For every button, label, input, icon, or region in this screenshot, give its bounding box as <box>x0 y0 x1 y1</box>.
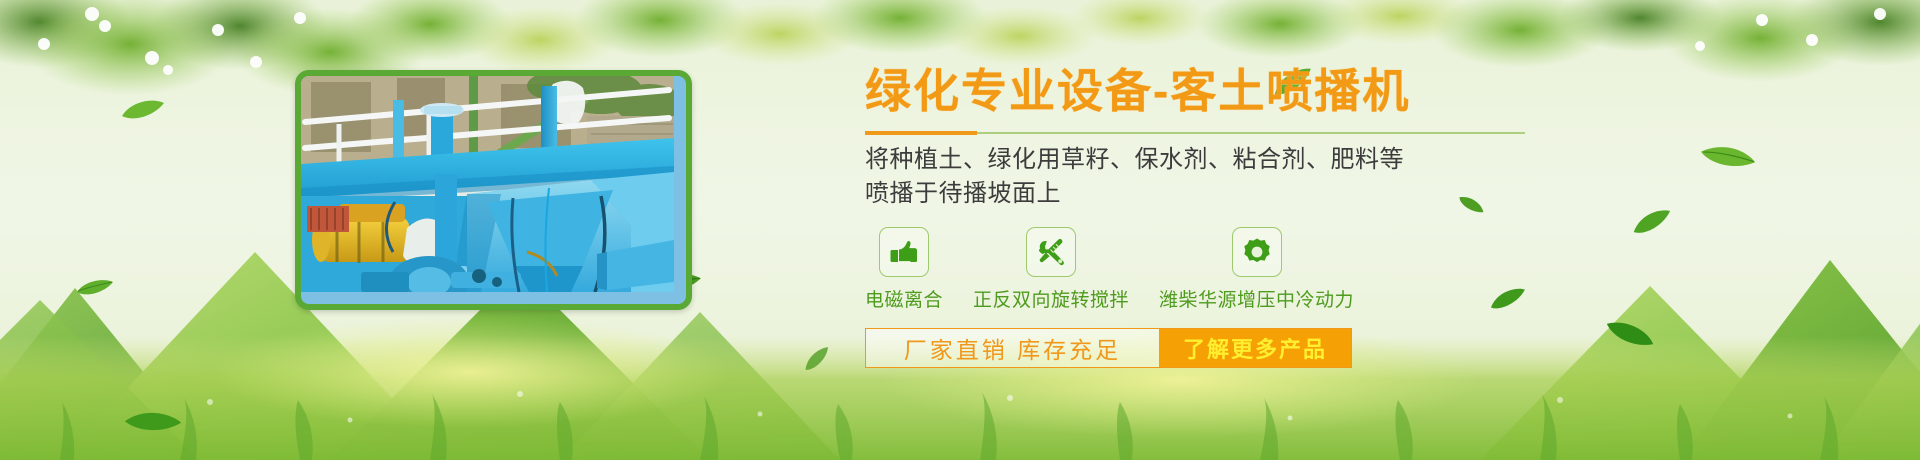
gear-icon <box>1232 227 1282 277</box>
feature-label: 正反双向旋转搅拌 <box>973 285 1129 312</box>
thumbs-up-icon <box>879 227 929 277</box>
product-photo <box>301 76 686 304</box>
product-photo-frame[interactable] <box>295 70 692 310</box>
feature-item-weichai-power[interactable]: 潍柴华源增压中冷动力 <box>1159 227 1354 312</box>
floating-leaf-icon <box>1696 130 1759 184</box>
feature-label: 潍柴华源增压中冷动力 <box>1159 285 1354 312</box>
feature-label: 电磁离合 <box>865 285 943 312</box>
feature-list: 电磁离合 <box>865 227 1625 312</box>
page-title: 绿化专业设备-客土喷播机 <box>865 66 1625 117</box>
learn-more-button[interactable]: 了解更多产品 <box>1159 329 1351 367</box>
feature-item-bidirectional-mixing[interactable]: 正反双向旋转搅拌 <box>973 227 1129 312</box>
cta-bar: 厂家直销 库存充足 了解更多产品 <box>865 328 1352 368</box>
subtitle-line-1: 将种植土、绿化用草籽、保水剂、粘合剂、肥料等 <box>865 143 1625 177</box>
banner-content: 绿化专业设备-客土喷播机 将种植土、绿化用草籽、保水剂、粘合剂、肥料等 喷播于待… <box>865 66 1625 368</box>
promo-banner: 绿化专业设备-客土喷播机 将种植土、绿化用草籽、保水剂、粘合剂、肥料等 喷播于待… <box>0 0 1920 460</box>
title-divider <box>865 131 1525 135</box>
floating-leaf-icon <box>75 278 115 298</box>
floating-leaf-icon <box>120 98 166 122</box>
tools-icon <box>1026 227 1076 277</box>
promo-text: 厂家直销 库存充足 <box>866 329 1159 367</box>
subtitle-line-2: 喷播于待播坡面上 <box>865 177 1625 211</box>
product-photo-illustration <box>301 76 674 292</box>
divider-orange-accent <box>865 131 977 135</box>
feature-item-electromagnetic-clutch[interactable]: 电磁离合 <box>865 227 943 312</box>
